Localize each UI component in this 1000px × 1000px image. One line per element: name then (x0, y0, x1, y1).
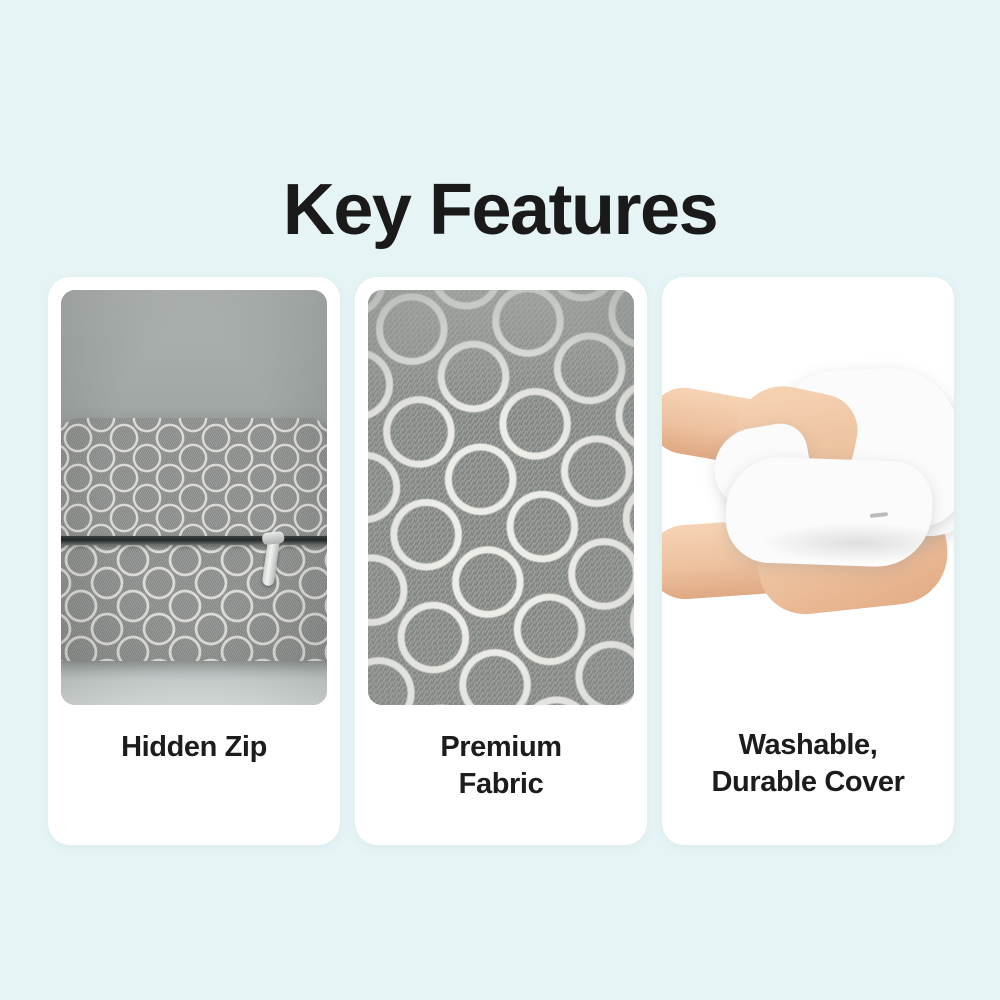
hands-holding-washable-cover-photo (662, 277, 954, 717)
feature-card-hidden-zip[interactable]: Hidden Zip (48, 277, 340, 845)
honeycomb-fabric-macro-photo (368, 290, 634, 705)
feature-card-caption: Washable, Durable Cover (662, 717, 954, 845)
pillow-edge-hidden-zipper-photo (61, 290, 327, 705)
feature-card-premium-fabric[interactable]: Premium Fabric (355, 277, 647, 845)
cover-drop-shadow (758, 523, 954, 563)
photo-focus-blur (368, 290, 634, 705)
photo-vignette (61, 290, 327, 705)
key-features-page: Key Features Hidden Zi (0, 0, 1000, 1000)
page-title: Key Features (0, 174, 1000, 246)
feature-card-caption: Hidden Zip (48, 705, 340, 845)
feature-card-caption: Premium Fabric (355, 705, 647, 845)
feature-card-washable-cover[interactable]: Washable, Durable Cover (662, 277, 954, 845)
feature-card-row: Hidden Zip Premium Fabric (48, 277, 954, 845)
